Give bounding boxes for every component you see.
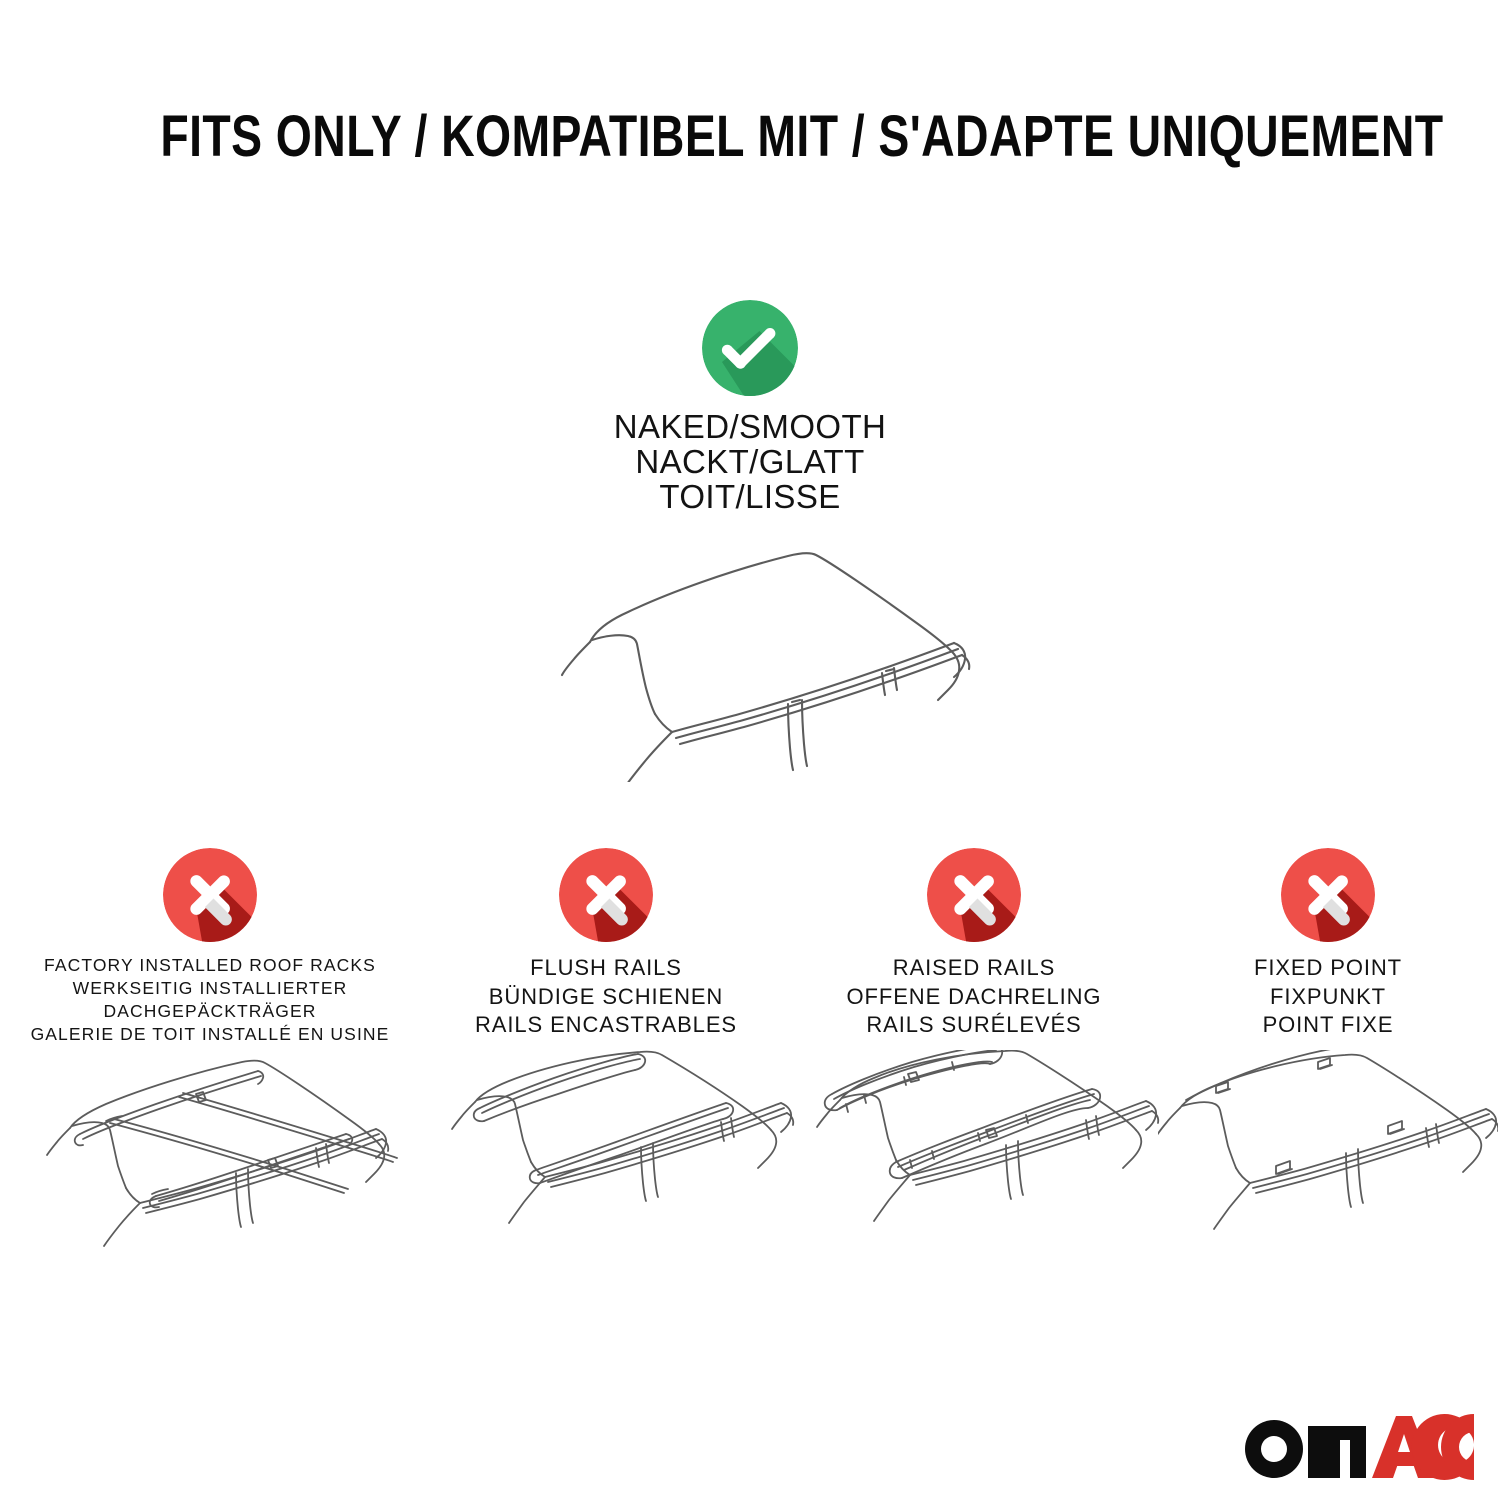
compatible-label-de: NACKT/GLATT (0, 444, 1500, 479)
cross-circle-icon (163, 848, 257, 942)
compatible-label-en: NAKED/SMOOTH (0, 409, 1500, 444)
incompatible-label-2-fr: RAILS SURÉLEVÉS (792, 1011, 1156, 1040)
incompatible-section: FACTORY INSTALLED ROOF RACKS WERKSEITIG … (0, 848, 1500, 1286)
cross-badge-container-1 (420, 848, 792, 948)
cross-circle-icon (927, 848, 1021, 942)
incompatible-item-raised-rails: RAISED RAILS OFFENE DACHRELING RAILS SUR… (792, 848, 1156, 1280)
incompatible-label-1-en: FLUSH RAILS (420, 954, 792, 983)
compatible-labels: NAKED/SMOOTH NACKT/GLATT TOIT/LISSE (0, 409, 1500, 514)
cross-badge-container-0 (0, 848, 420, 948)
incompatible-label-0-de-1: WERKSEITIG INSTALLIERTER (0, 977, 420, 1000)
check-badge-container (0, 300, 1500, 400)
cross-badge-container-3 (1156, 848, 1500, 948)
compatible-label-fr: TOIT/LISSE (0, 479, 1500, 514)
compatible-section: NAKED/SMOOTH NACKT/GLATT TOIT/LISSE (0, 300, 1500, 787)
page-title-text: FITS ONLY / KOMPATIBEL MIT / S'ADAPTE UN… (160, 103, 1443, 170)
omac-logo (1238, 1412, 1474, 1482)
incompatible-label-2-de: OFFENE DACHRELING (792, 983, 1156, 1012)
incompatible-labels-0: FACTORY INSTALLED ROOF RACKS WERKSEITIG … (0, 954, 420, 1046)
car-roof-flush-rails-illustration (420, 1050, 792, 1280)
incompatible-labels-3: FIXED POINT FIXPUNKT POINT FIXE (1156, 954, 1500, 1040)
car-roof-fixed-point-illustration (1156, 1050, 1500, 1280)
incompatible-label-3-de: FIXPUNKT (1156, 983, 1500, 1012)
page-title: FITS ONLY / KOMPATIBEL MIT / S'ADAPTE UN… (0, 103, 1500, 170)
logo-letter-m (1308, 1426, 1366, 1478)
incompatible-item-factory-racks: FACTORY INSTALLED ROOF RACKS WERKSEITIG … (0, 848, 420, 1286)
incompatible-labels-1: FLUSH RAILS BÜNDIGE SCHIENEN RAILS ENCAS… (420, 954, 792, 1040)
incompatible-label-3-fr: POINT FIXE (1156, 1011, 1500, 1040)
incompatible-item-flush-rails: FLUSH RAILS BÜNDIGE SCHIENEN RAILS ENCAS… (420, 848, 792, 1280)
incompatible-label-0-de-2: DACHGEPÄCKTRÄGER (0, 1000, 420, 1023)
incompatible-label-0-fr: GALERIE DE TOIT INSTALLÉ EN USINE (0, 1023, 420, 1046)
car-roof-factory-racks-illustration (0, 1056, 420, 1286)
incompatible-label-0-en: FACTORY INSTALLED ROOF RACKS (0, 954, 420, 977)
cross-badge-container-2 (792, 848, 1156, 948)
incompatible-label-2-en: RAISED RAILS (792, 954, 1156, 983)
check-circle-icon (702, 300, 798, 396)
incompatible-label-1-fr: RAILS ENCASTRABLES (420, 1011, 792, 1040)
incompatible-label-1-de: BÜNDIGE SCHIENEN (420, 983, 792, 1012)
incompatible-labels-2: RAISED RAILS OFFENE DACHRELING RAILS SUR… (792, 954, 1156, 1040)
cross-circle-icon (559, 848, 653, 942)
car-roof-naked-smooth-illustration (0, 532, 1500, 787)
logo-letter-o (1245, 1420, 1303, 1478)
car-roof-raised-rails-illustration (792, 1050, 1156, 1280)
cross-circle-icon (1281, 848, 1375, 942)
incompatible-label-3-en: FIXED POINT (1156, 954, 1500, 983)
incompatible-item-fixed-point: FIXED POINT FIXPUNKT POINT FIXE (1156, 848, 1500, 1280)
